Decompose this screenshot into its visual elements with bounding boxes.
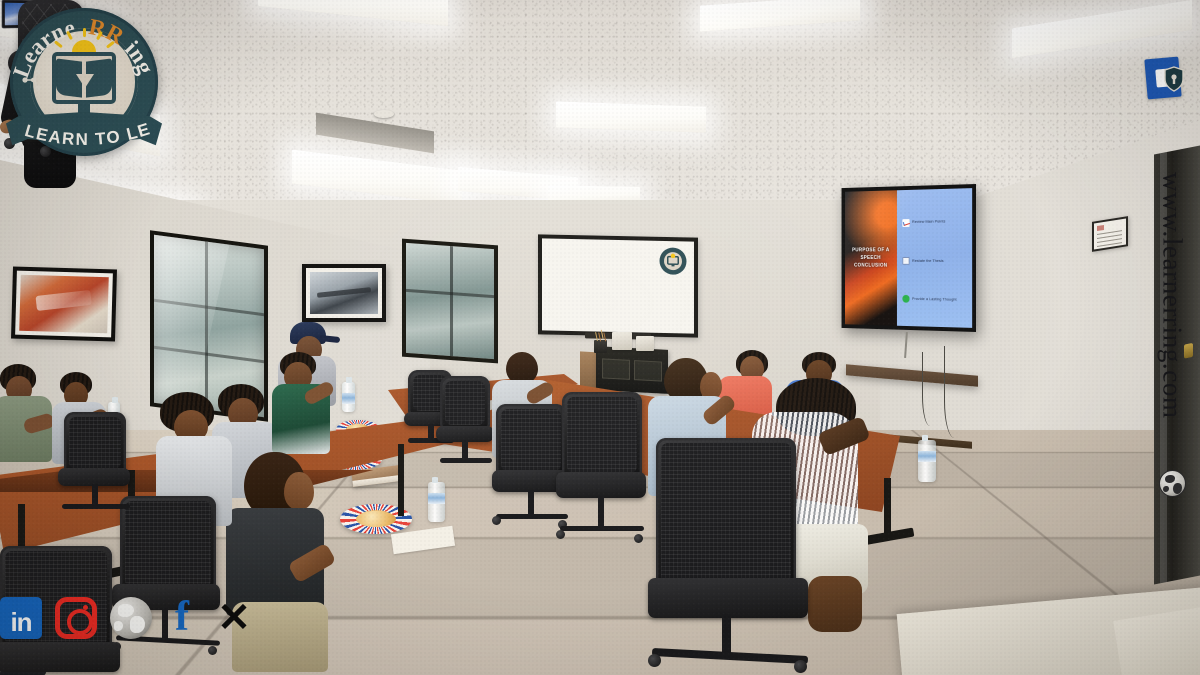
water-bottle <box>342 382 355 412</box>
power-cable <box>944 346 970 438</box>
slide-bullet-text: Restate the Thesis <box>912 259 944 263</box>
shield-icon <box>1164 66 1184 92</box>
water-bottle <box>918 440 936 482</box>
logo-name-part3: ing <box>120 36 158 78</box>
website-watermark: www.learnerring.com <box>1150 172 1194 512</box>
website-url-text: www.learnerring.com <box>1157 172 1188 419</box>
globe-icon <box>1159 470 1186 497</box>
framed-certificate <box>1092 216 1128 252</box>
slide-title-text: PURPOSE OF A SPEECH CONCLUSION <box>845 246 897 269</box>
linkedin-icon[interactable]: in <box>0 597 42 639</box>
person-leg <box>808 576 862 632</box>
slide-bullet: Restate the Thesis <box>902 257 967 265</box>
tissue-box <box>612 332 632 350</box>
task-chair[interactable] <box>436 376 496 472</box>
slide-bullet: Provide a Lasting Thought <box>902 295 967 304</box>
slide-title-panel: PURPOSE OF A SPEECH CONCLUSION <box>845 190 897 325</box>
network-icon <box>22 68 44 92</box>
interior-window-center <box>402 239 498 364</box>
facebook-icon[interactable]: f <box>165 596 199 640</box>
task-chair[interactable] <box>556 392 650 552</box>
framed-aircraft-print <box>11 267 117 342</box>
ceiling-light-panel <box>556 101 706 132</box>
logo-tagline: LEARN TO LEAD <box>6 112 153 149</box>
slide-bullets-panel: Review Main Points Restate the Thesis Pr… <box>897 188 972 328</box>
event-photo: PURPOSE OF A SPEECH CONCLUSION Review Ma… <box>0 0 1200 675</box>
open-book-icon <box>56 60 112 98</box>
svg-text:LEARN TO LEAD: LEARN TO LEAD <box>6 112 153 149</box>
slide-bullet-text: Provide a Lasting Thought <box>912 297 956 302</box>
green-dot-icon <box>902 295 909 303</box>
instagram-icon[interactable] <box>55 597 97 639</box>
table-leg <box>398 444 404 516</box>
whiteboard-logo-decal <box>658 246 688 277</box>
person-face <box>284 472 314 510</box>
wall-mounted-tv: PURPOSE OF A SPEECH CONCLUSION Review Ma… <box>842 184 976 332</box>
tissue-box <box>636 336 654 351</box>
chart-icon <box>902 219 909 227</box>
x-twitter-icon[interactable]: ✕ <box>212 596 256 640</box>
task-chair[interactable] <box>58 412 136 522</box>
task-chair[interactable] <box>112 496 224 672</box>
student <box>0 364 56 460</box>
power-cable <box>922 352 942 426</box>
table-leg <box>884 478 891 538</box>
smoke-detector-icon <box>374 110 394 118</box>
slide-bullet: Review Main Points <box>902 218 967 227</box>
logo-tagline-banner: LEARN TO LEAD <box>6 112 162 164</box>
framed-vehicle-print <box>302 264 386 322</box>
svg-text:ing: ing <box>120 36 158 78</box>
whiteboard <box>538 234 698 337</box>
water-bottle <box>428 482 445 522</box>
social-icon-row: in f ✕ <box>0 593 256 643</box>
globe-icon[interactable] <box>110 597 152 639</box>
pencil-cup <box>594 340 607 353</box>
document-icon <box>902 257 909 265</box>
student <box>272 352 338 452</box>
sun-ray <box>83 28 86 37</box>
task-chair[interactable] <box>648 438 816 675</box>
slide-bullet-text: Review Main Points <box>912 220 945 225</box>
